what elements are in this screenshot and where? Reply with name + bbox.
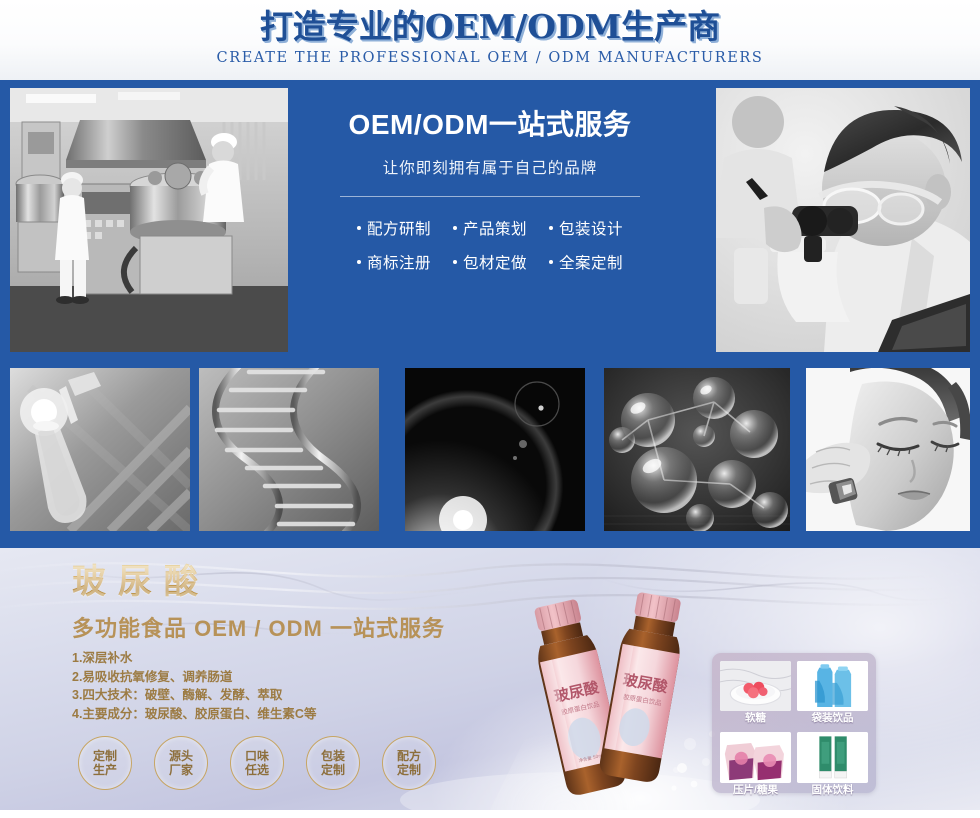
- gallery-item-dna: [199, 368, 379, 531]
- product-cell-gummies[interactable]: 软糖: [720, 661, 791, 726]
- product-label: 袋装饮品: [797, 711, 868, 726]
- promo-feature-list: 1.深层补水 2.易吸收抗氧修复、调养肠道 3.四大技术：破壁、酶解、发酵、萃取…: [72, 649, 502, 723]
- hero-services-row-2: 商标注册 包材定做 全案定制: [357, 251, 623, 273]
- product-bottles-photo: 玻尿酸 胶原蛋白饮品 净含量 50mL 玻尿酸 胶原蛋白饮品: [524, 592, 704, 810]
- badge-line-1: 配方: [397, 749, 421, 764]
- service-label: 商标注册: [367, 251, 431, 273]
- badge-line-1: 源头: [169, 749, 193, 764]
- gummies-thumbnail: [720, 661, 791, 711]
- service-item: 包材定做: [453, 251, 527, 273]
- badge-line-2: 生产: [93, 763, 117, 778]
- badge-formula-custom[interactable]: 配方 定制: [382, 736, 436, 790]
- service-item: 配方研制: [357, 217, 431, 239]
- service-label: 产品策划: [463, 217, 527, 239]
- service-item: 商标注册: [357, 251, 431, 273]
- promo-feature-item: 1.深层补水: [72, 649, 502, 668]
- product-cell-pouch-drink[interactable]: 袋装饮品: [797, 661, 868, 726]
- service-item: 全案定制: [549, 251, 623, 273]
- bullet-dot-icon: [453, 226, 457, 230]
- page-subtitle: CREATE THE PROFESSIONAL OEM / ODM MANUFA…: [217, 50, 764, 66]
- hero-divider: [340, 196, 640, 197]
- gallery-item-beauty-model: [806, 368, 970, 531]
- product-cell-tablet-candy[interactable]: 压片/糖果: [720, 732, 791, 797]
- product-type-grid: 软糖 袋装饮品: [712, 653, 876, 793]
- badge-line-2: 任选: [245, 763, 269, 778]
- hero-services: 配方研制 产品策划 包装设计 商标注册 包材定做 全案定制: [300, 217, 680, 273]
- bullet-dot-icon: [357, 260, 361, 264]
- bullet-dot-icon: [453, 260, 457, 264]
- hero-band: OEM/ODM一站式服务 让你即刻拥有属于自己的品牌 配方研制 产品策划 包装设…: [0, 80, 980, 548]
- tablet-candy-thumbnail: [720, 732, 791, 782]
- gallery-item-test-tube: [10, 368, 190, 531]
- page-header: 打造专业的OEM/ODM生产商 CREATE THE PROFESSIONAL …: [0, 0, 980, 80]
- service-label: 配方研制: [367, 217, 431, 239]
- promo-subtitle: 多功能食品 OEM / ODM 一站式服务: [72, 615, 445, 643]
- service-label: 包材定做: [463, 251, 527, 273]
- service-label: 全案定制: [559, 251, 623, 273]
- solid-drink-thumbnail: [797, 732, 868, 782]
- promo-badges: 定制 生产 源头 厂家 口味 任选 包装 定制 配方 定制: [78, 736, 436, 790]
- hero-services-row-1: 配方研制 产品策划 包装设计: [357, 217, 623, 239]
- badge-line-2: 定制: [321, 763, 345, 778]
- lab-photo: [716, 88, 970, 352]
- factory-photo: [10, 88, 288, 352]
- service-item: 包装设计: [549, 217, 623, 239]
- badge-packaging-custom[interactable]: 包装 定制: [306, 736, 360, 790]
- hero-subheadline: 让你即刻拥有属于自己的品牌: [300, 156, 680, 178]
- promo-feature-item: 4.主要成分：玻尿酸、胶原蛋白、维生素C等: [72, 705, 502, 724]
- badge-source-factory[interactable]: 源头 厂家: [154, 736, 208, 790]
- badge-line-2: 厂家: [169, 763, 193, 778]
- pouch-drink-thumbnail: [797, 661, 868, 711]
- badge-line-1: 定制: [93, 749, 117, 764]
- badge-line-2: 定制: [397, 763, 421, 778]
- bullet-dot-icon: [357, 226, 361, 230]
- product-label: 固体饮料: [797, 783, 868, 798]
- photo-strip: [0, 368, 980, 538]
- badge-line-1: 口味: [245, 749, 269, 764]
- bullet-dot-icon: [549, 226, 553, 230]
- bullet-dot-icon: [549, 260, 553, 264]
- gallery-item-molecule: [604, 368, 790, 531]
- service-label: 包装设计: [559, 217, 623, 239]
- badge-flavor-choice[interactable]: 口味 任选: [230, 736, 284, 790]
- hero-copy: OEM/ODM一站式服务 让你即刻拥有属于自己的品牌 配方研制 产品策划 包装设…: [300, 108, 680, 338]
- promo-feature-item: 2.易吸收抗氧修复、调养肠道: [72, 668, 502, 687]
- promo-title: 玻尿酸: [72, 561, 210, 603]
- promo-feature-item: 3.四大技术：破壁、酶解、发酵、萃取: [72, 686, 502, 705]
- product-label: 软糖: [720, 711, 791, 726]
- hero-headline: OEM/ODM一站式服务: [300, 108, 680, 142]
- badge-custom-production[interactable]: 定制 生产: [78, 736, 132, 790]
- service-item: 产品策划: [453, 217, 527, 239]
- badge-line-1: 包装: [321, 749, 345, 764]
- page-title: 打造专业的OEM/ODM生产商: [260, 7, 720, 47]
- product-label: 压片/糖果: [720, 783, 791, 798]
- product-cell-solid-drink[interactable]: 固体饮料: [797, 732, 868, 797]
- gallery-item-planet: [405, 368, 585, 531]
- promo-page: 打造专业的OEM/ODM生产商 CREATE THE PROFESSIONAL …: [0, 0, 980, 818]
